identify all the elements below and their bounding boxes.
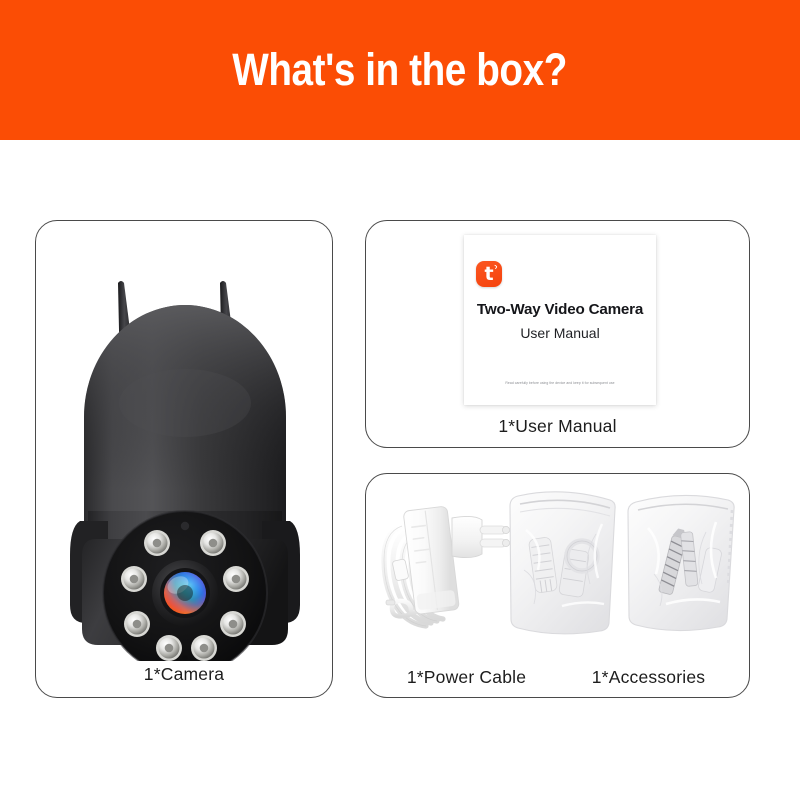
power-cable-label: 1*Power Cable xyxy=(374,667,559,688)
power-adapter-icon xyxy=(384,506,510,626)
header-banner: What's in the box? xyxy=(0,0,800,140)
whats-in-the-box-page: What's in the box? xyxy=(0,0,800,800)
page-title: What's in the box? xyxy=(233,44,568,96)
tuya-logo-icon: t xyxy=(476,261,502,287)
accessories-card: 1*Power Cable 1*Accessories xyxy=(365,473,750,698)
light-sensor-icon xyxy=(181,522,189,530)
accessories-svg xyxy=(366,474,751,664)
camera-illustration xyxy=(36,221,334,661)
manual-title: Two-Way Video Camera xyxy=(464,301,656,318)
microphone-icon xyxy=(182,655,187,660)
camera-card: 1*Camera xyxy=(35,220,333,698)
manual-subtitle: User Manual xyxy=(464,325,656,341)
manual-fine-print: Read carefully before using the device a… xyxy=(474,381,646,385)
user-manual-card: t Two-Way Video Camera User Manual Read … xyxy=(365,220,750,448)
tuya-logo-letter: t xyxy=(476,262,502,287)
screw-bag-icon xyxy=(628,495,734,630)
security-camera-icon xyxy=(36,221,334,661)
manual-card-label: 1*User Manual xyxy=(366,416,749,437)
camera-card-label: 1*Camera xyxy=(36,664,332,685)
user-manual-cover: t Two-Way Video Camera User Manual Read … xyxy=(464,235,656,405)
camera-lens-icon xyxy=(152,560,218,626)
accessories-label: 1*Accessories xyxy=(556,667,741,688)
accessories-illustration xyxy=(366,474,751,659)
accessory-bag-icon xyxy=(510,492,615,634)
